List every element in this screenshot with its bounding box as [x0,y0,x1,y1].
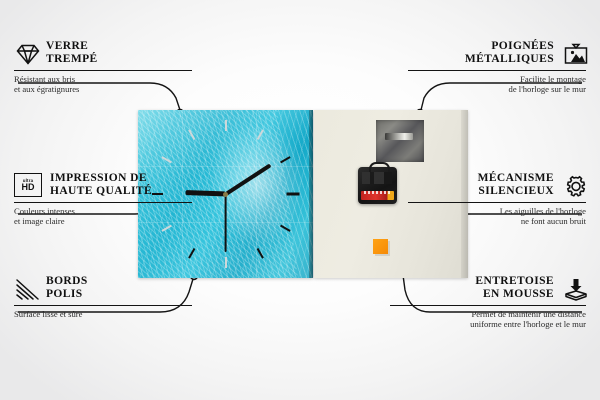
foam-spacer [373,239,388,254]
hanger-slot [385,133,413,140]
feature-desc: Résistant aux bris et aux égratignures [14,74,192,95]
ultra-hd-badge-main: HD [22,183,35,192]
feature-impression-haute-qualite: ultra HD IMPRESSION DE HAUTE QUALITÉ Cou… [14,172,192,227]
feature-mecanisme-silencieux: MÉCANISME SILENCIEUX Les aiguilles de l'… [408,172,586,227]
feature-title: IMPRESSION DE HAUTE QUALITÉ [50,172,152,198]
feature-desc: Couleurs intenses et image claire [14,206,192,227]
clock-mechanism [358,167,397,204]
battery-label [364,191,390,194]
feature-desc: Surface lisse et sûre [14,309,192,319]
divider [408,70,586,71]
feature-bords-polis: BORDS POLIS Surface lisse et sûre [14,275,192,319]
feature-verre-trempe: VERRE TREMPÉ Résistant aux bris et aux é… [14,40,192,95]
clock-minute-hand [224,163,271,195]
divider [14,305,192,306]
clock-center-cap [223,192,228,197]
feature-title: POIGNÉES MÉTALLIQUES [465,40,554,66]
metal-hanger-plate [376,120,424,162]
feature-poignees-metalliques: POIGNÉES MÉTALLIQUES Facilite le montage… [408,40,586,95]
feature-title: VERRE TREMPÉ [46,40,98,66]
feature-desc: Les aiguilles de l'horloge ne font aucun… [408,206,586,227]
divider [390,305,586,306]
feature-title: MÉCANISME SILENCIEUX [478,172,554,198]
feature-entretoise-en-mousse: ENTRETOISE EN MOUSSE Permet de maintenir… [390,275,586,330]
mechanism-detail [362,172,392,184]
divider [14,202,192,203]
feature-desc: Facilite le montage de l'horloge sur le … [408,74,586,95]
clock-second-hand [225,194,227,252]
feature-desc: Permet de maintenir une distance uniform… [390,309,586,330]
gear-icon [562,174,586,196]
ultra-hd-icon: ultra HD [14,173,42,197]
infographic-canvas: VERRE TREMPÉ Résistant aux bris et aux é… [0,0,600,400]
diamond-icon [14,42,38,64]
polished-edge-icon [14,277,38,299]
battery [361,191,394,200]
picture-hanger-icon [562,42,586,64]
foam-spacer-icon [562,277,586,299]
divider [14,70,192,71]
divider [408,202,586,203]
feature-title: BORDS POLIS [46,275,88,301]
feature-title: ENTRETOISE EN MOUSSE [475,275,554,301]
